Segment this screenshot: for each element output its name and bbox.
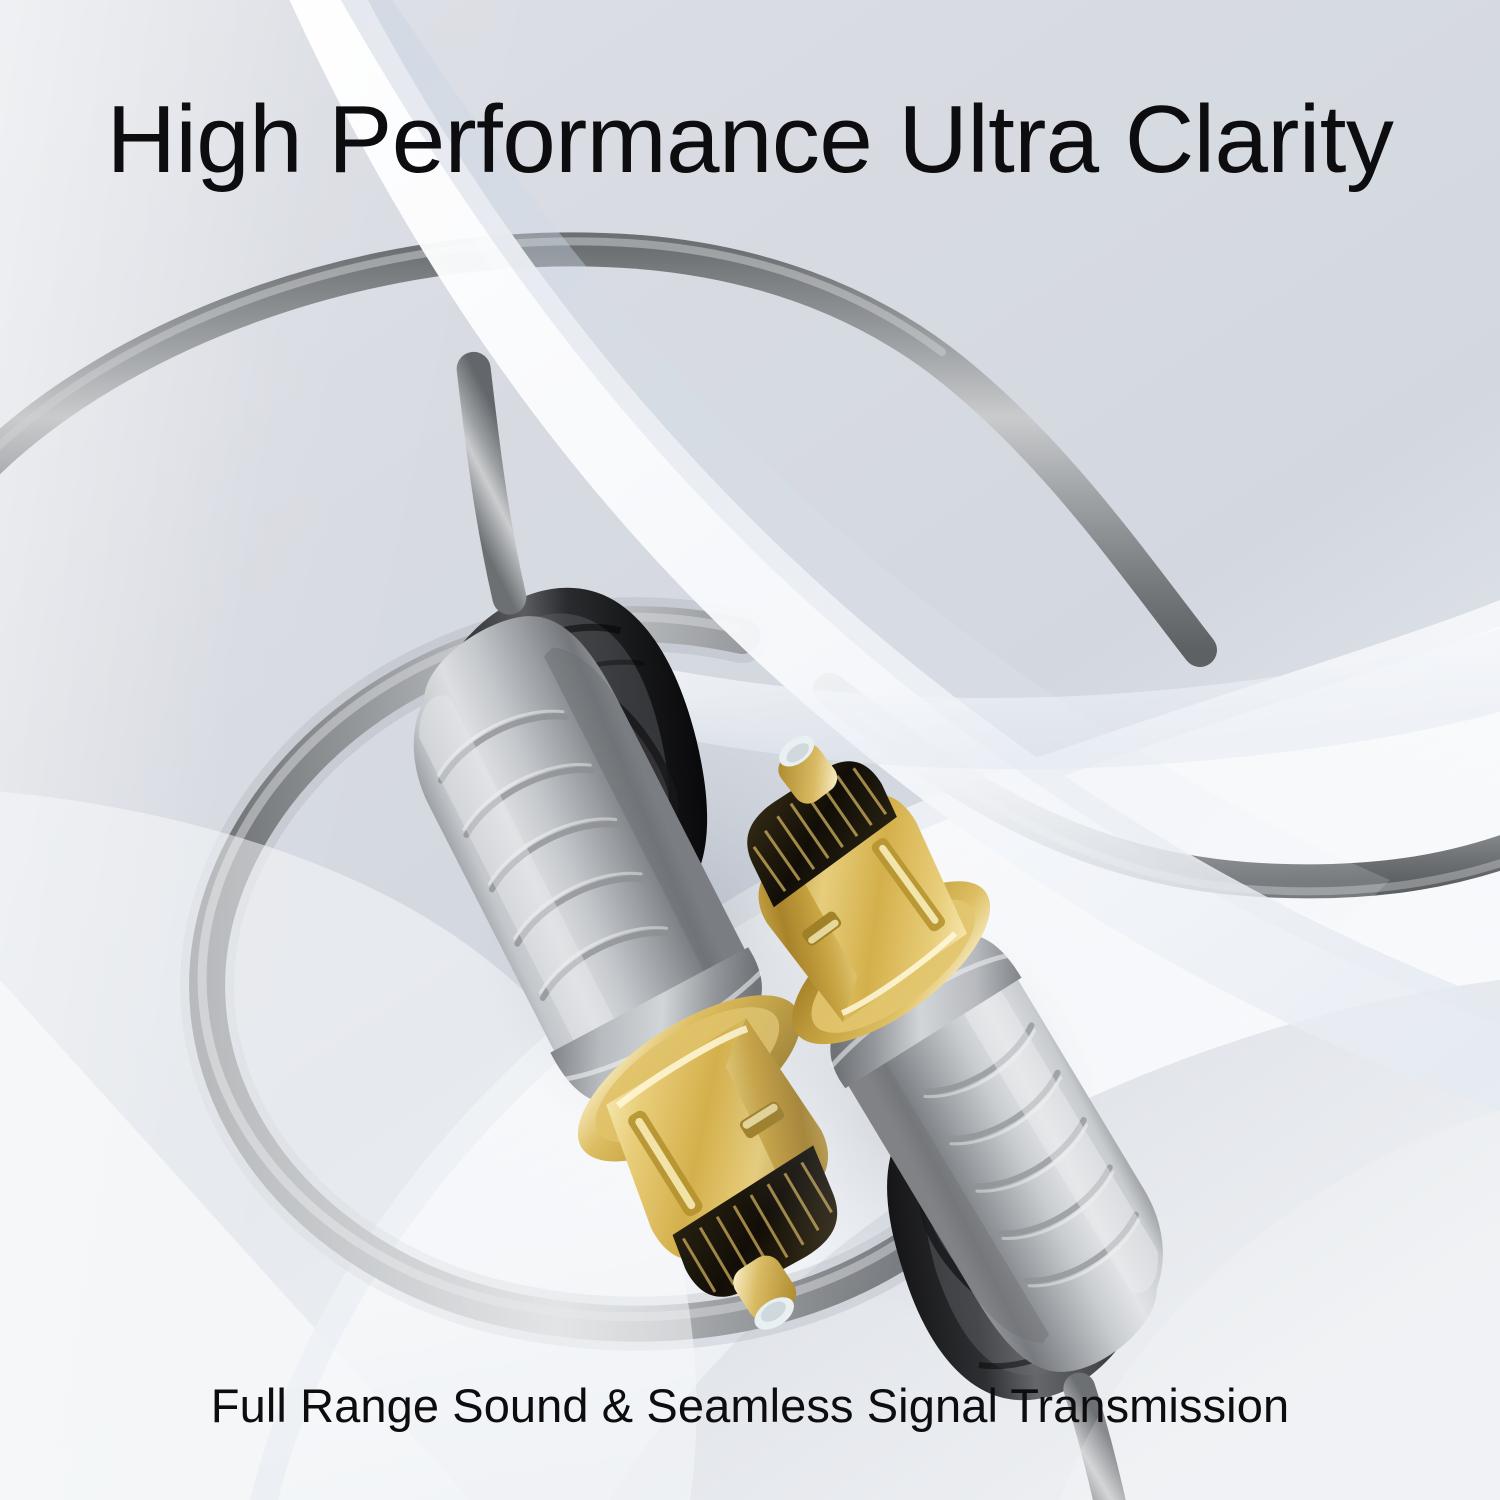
product-marketing-image: High Performance Ultra Clarity Full Rang… (0, 0, 1500, 1500)
product-scene (0, 0, 1500, 1500)
